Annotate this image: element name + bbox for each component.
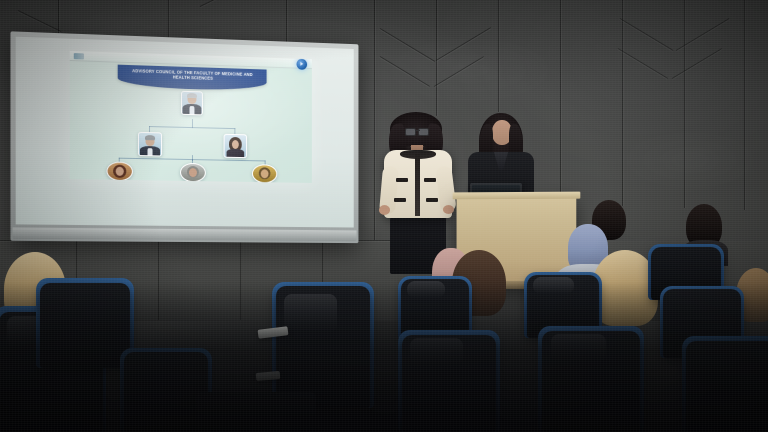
- portrait-shirt: [189, 106, 194, 114]
- org-node-photo: [138, 132, 162, 157]
- presentation-room-photo: ADVISORY COUNCIL OF THE FACULTY OF MEDIC…: [0, 0, 768, 432]
- wainscot-seam: [158, 240, 159, 320]
- org-node-photo: [180, 163, 206, 182]
- portrait-face-icon: [108, 163, 132, 181]
- eyeglass-bridge: [415, 130, 420, 131]
- portrait-head: [189, 168, 197, 177]
- org-node-photo: [224, 134, 248, 158]
- seat-highlight: [410, 338, 463, 365]
- org-node-name: [102, 182, 136, 183]
- portrait-suit: [227, 149, 245, 157]
- eyeglass-lens-right: [418, 128, 429, 136]
- presenter-hand-left: [379, 205, 390, 215]
- org-node-name: [175, 116, 209, 117]
- portrait-face-icon: [181, 164, 205, 181]
- seat-highlight: [533, 277, 574, 294]
- wainscot-seam: [240, 240, 241, 320]
- lectern-top-edge: [453, 192, 581, 200]
- whiteboard-surface: ADVISORY COUNCIL OF THE FACULTY OF MEDIC…: [16, 37, 354, 228]
- presenter-jacket-pocket: [396, 178, 408, 182]
- portrait-face-icon: [182, 92, 202, 115]
- audience-seat[interactable]: [682, 336, 768, 432]
- org-node-photo: [181, 91, 203, 116]
- projected-slide: ADVISORY COUNCIL OF THE FACULTY OF MEDIC…: [70, 51, 312, 183]
- whiteboard-marker-tray: [13, 227, 357, 241]
- presenter-jacket-pocket: [394, 198, 406, 202]
- presenter-jacket-placket: [415, 154, 420, 216]
- play-circle-icon: [297, 59, 308, 70]
- org-node-photo: [252, 164, 277, 183]
- portrait-face-oval: [232, 139, 239, 148]
- audience-seat[interactable]: [196, 392, 316, 432]
- portrait-face-icon: [139, 133, 161, 156]
- portrait-head: [261, 169, 269, 178]
- portrait-hair: [187, 93, 197, 98]
- presenter-jacket-pocket: [424, 178, 436, 182]
- seat-highlight: [284, 294, 337, 333]
- seat-back: [686, 341, 768, 432]
- presenter-hand-right: [443, 205, 454, 214]
- institution-logo-icon: [74, 53, 84, 59]
- slide-title-band: ADVISORY COUNCIL OF THE FACULTY OF MEDIC…: [118, 65, 267, 92]
- org-node-role: [175, 116, 209, 117]
- portrait-head: [116, 167, 124, 176]
- presenter-jacket-pocket: [426, 198, 438, 202]
- portrait-shirt: [148, 148, 153, 155]
- eyeglasses-icon: [405, 128, 429, 134]
- org-connector: [149, 126, 235, 129]
- org-node-third-2: [176, 163, 210, 183]
- org-node-second-right: [217, 134, 254, 160]
- seat-highlight: [551, 334, 606, 362]
- whiteboard-frame: ADVISORY COUNCIL OF THE FACULTY OF MEDIC…: [10, 31, 358, 243]
- org-node-third-3: [248, 164, 281, 183]
- slide-title: ADVISORY COUNCIL OF THE FACULTY OF MEDIC…: [130, 68, 255, 82]
- org-node-third-1: [102, 161, 136, 182]
- org-node-photo: [107, 161, 133, 181]
- seat-back: [40, 283, 130, 368]
- portrait-face-icon: [253, 165, 276, 182]
- audience-seat[interactable]: [538, 326, 644, 432]
- audience-seat[interactable]: [398, 330, 500, 432]
- seat-back: [196, 392, 316, 432]
- org-node-second-left: [131, 132, 169, 158]
- portrait-face-icon: [225, 135, 247, 157]
- seat-highlight: [407, 281, 445, 298]
- portrait-hair: [145, 135, 155, 140]
- org-node-head: [175, 91, 209, 117]
